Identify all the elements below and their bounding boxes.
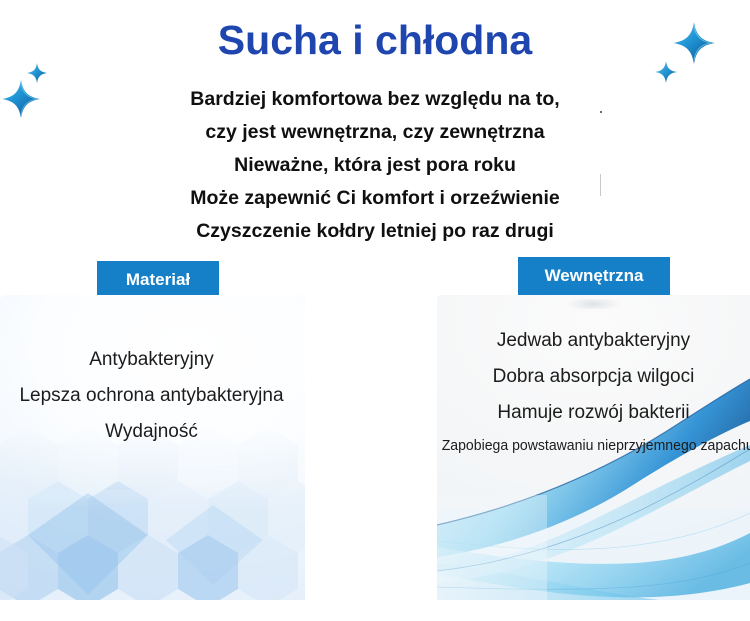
panel-material: Antybakteryjny Lepsza ochrona antybakter… xyxy=(0,295,305,600)
promo-banner: Sucha i chłodna Bardziej komfortowa bez … xyxy=(0,0,750,621)
subcopy-line-3: Nieważne, która jest pora roku xyxy=(0,149,750,182)
subcopy-line-1: Bardziej komfortowa bez względu na to, xyxy=(0,83,750,116)
subcopy-line-4: Może zapewnić Ci komfort i orzeźwienie xyxy=(0,182,750,215)
sparkle-icon-top-left-small xyxy=(27,63,47,83)
subcopy-line-2: czy jest wewnętrzna, czy zewnętrzna xyxy=(0,116,750,149)
subcopy-line-5: Czyszczenie kołdry letniej po raz drugi xyxy=(0,215,750,248)
panel-material-line-3: Wydajność xyxy=(0,414,305,450)
panel-wewnetrzna-line-3: Hamuje rozwój bakterii xyxy=(437,395,750,431)
panel-wewnetrzna-line-4: Zapobiega powstawaniu nieprzyjemnego zap… xyxy=(442,431,746,461)
panel-wewnetrzna-line-2: Dobra absorpcja wilgoci xyxy=(437,359,750,395)
panel-material-line-1: Antybakteryjny xyxy=(0,342,305,378)
subcopy-block: Bardziej komfortowa bez względu na to, c… xyxy=(0,83,750,248)
badge-wewnetrzna: Wewnętrzna xyxy=(518,257,670,295)
panel-wewnetrzna: Jedwab antybakteryjny Dobra absorpcja wi… xyxy=(437,295,750,600)
stray-line-artifact xyxy=(600,174,601,196)
panel-material-text: Antybakteryjny Lepsza ochrona antybakter… xyxy=(0,342,305,450)
sparkle-icon-top-right-small xyxy=(655,61,677,83)
page-title: Sucha i chłodna xyxy=(0,19,750,62)
stray-dot-artifact xyxy=(600,111,602,113)
panel-wewnetrzna-line-1: Jedwab antybakteryjny xyxy=(437,323,750,359)
panel-wewnetrzna-text: Jedwab antybakteryjny Dobra absorpcja wi… xyxy=(437,323,750,461)
badge-material: Materiał xyxy=(97,261,219,299)
panel-haze xyxy=(556,299,631,309)
panel-material-line-2: Lepsza ochrona antybakteryjna xyxy=(0,378,305,414)
